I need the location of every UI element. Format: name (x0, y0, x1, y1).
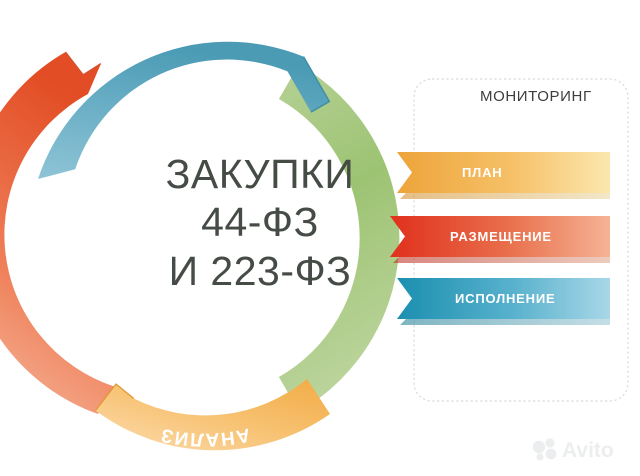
monitoring-bar-plan[interactable] (397, 152, 610, 199)
monitoring-bar-label-plan: ПЛАН (462, 165, 502, 180)
monitoring-bar-label-placement: РАЗМЕЩЕНИЕ (450, 229, 552, 244)
monitoring-bar-label-execution: ИСПОЛНЕНИЕ (455, 291, 555, 306)
avito-watermark-text: Avito (562, 439, 614, 462)
avito-watermark: Avito (533, 438, 614, 462)
monitoring-title: МОНИТОРИНГ (480, 88, 592, 105)
cycle-label-correction: КОРРЕКТИРОВКА (109, 85, 301, 129)
diagram-canvas: КОРРЕКТИРОВКА АНАЛИЗ ПРИНЯТИЕ РЕШЕНИЙ (0, 0, 640, 476)
